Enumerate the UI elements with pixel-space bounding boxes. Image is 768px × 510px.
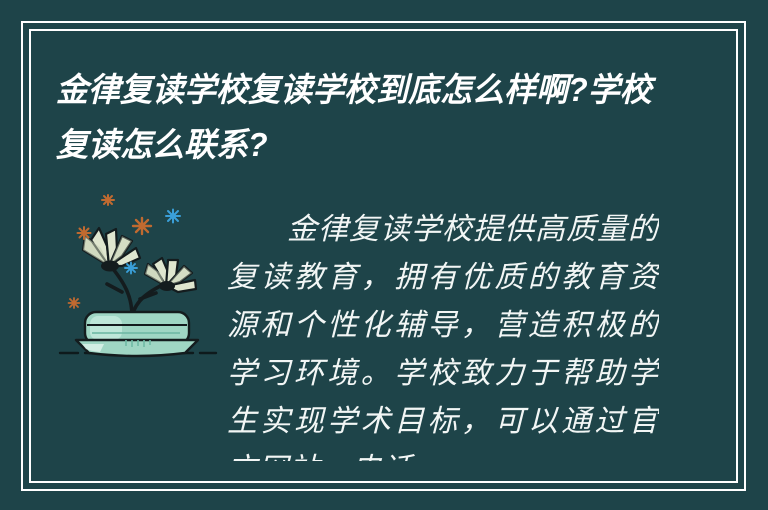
potted-plant-illustration <box>52 188 224 370</box>
poster-canvas: 金律复读学校复读学校到底怎么样啊?学校复读怎么联系? <box>0 0 768 510</box>
article-body-text: 金律复读学校提供高质量的复读教育，拥有优质的教育资源和个性化辅导，营造积极的学习… <box>227 206 659 461</box>
pot-saucer-icon <box>76 340 198 356</box>
flower-right-icon <box>145 258 196 292</box>
page-title: 金律复读学校复读学校到底怎么样啊?学校复读怎么联系? <box>56 62 657 172</box>
